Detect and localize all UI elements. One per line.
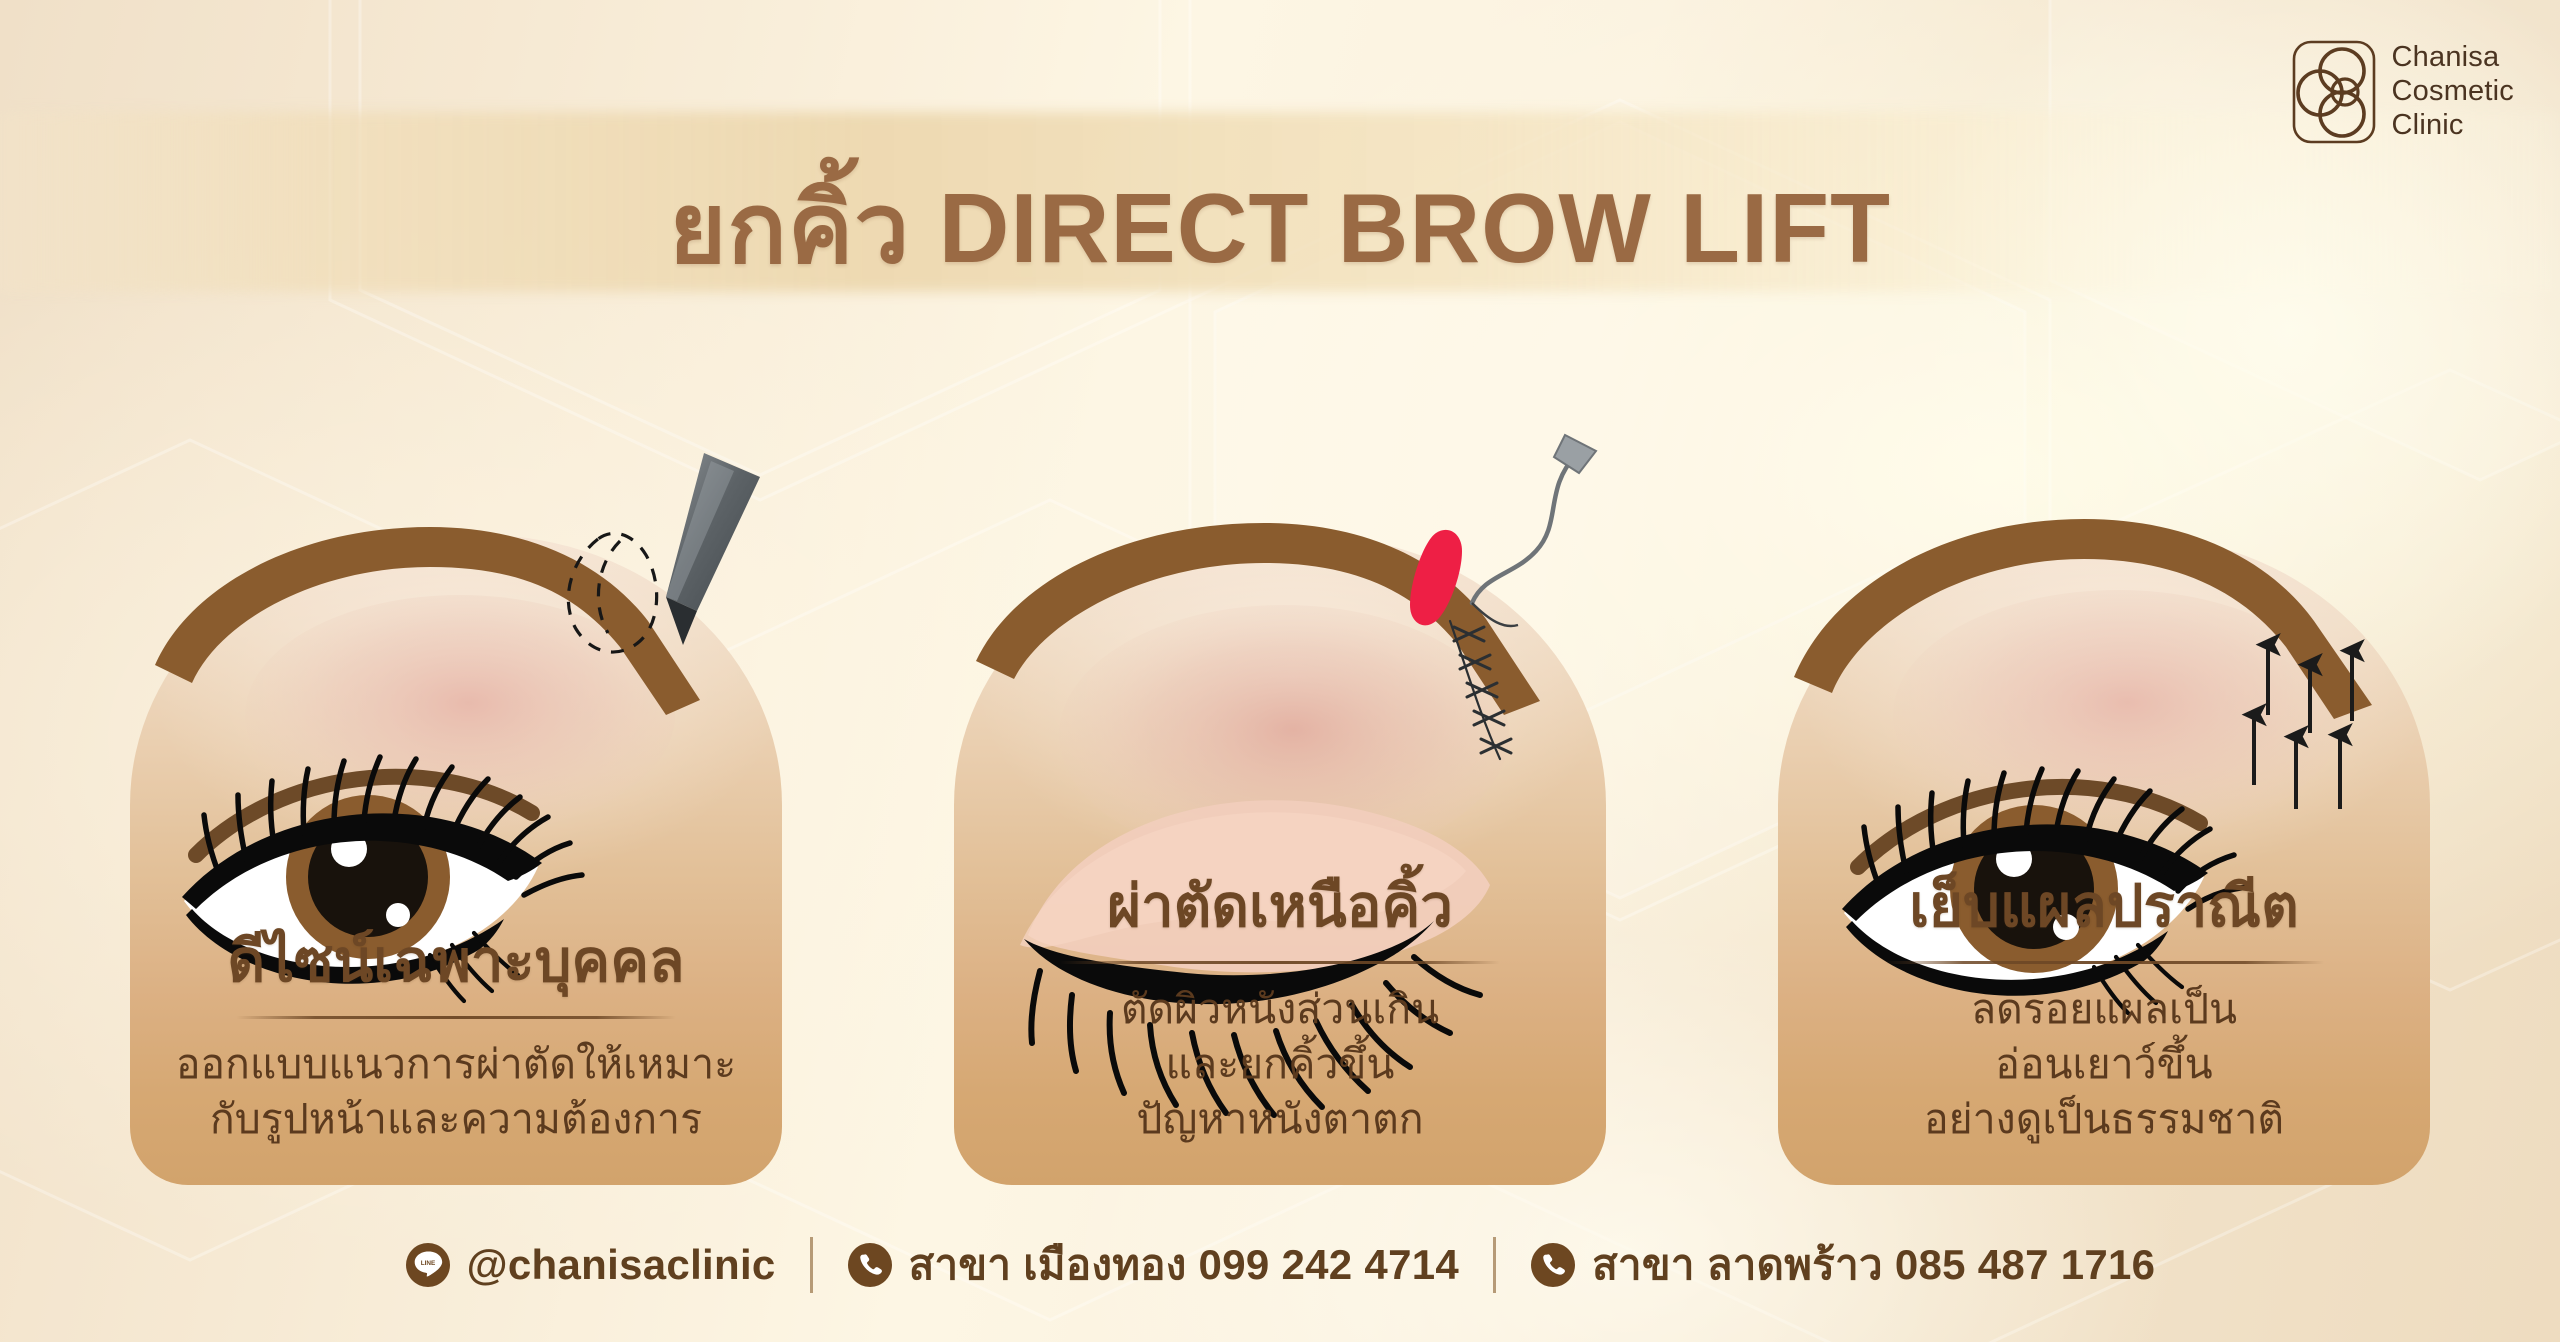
footer-branch-ladprao[interactable]: สาขา ลาดพร้าว 085 487 1716 [1496,1232,2189,1298]
line-handle: @chanisaclinic [467,1241,776,1289]
page-title: ยกคิ้ว DIRECT BROW LIFT [0,150,2560,306]
card-title: เย็บแผลปราณีต [1748,875,2460,939]
clinic-name: Chanisa Cosmetic Clinic [2392,41,2514,143]
card-description: ลดรอยแผลเป็น อ่อนเยาว์ขึ้น อย่างดูเป็นธร… [1748,982,2460,1147]
card-description: ตัดผิวหนังส่วนเกิน และยกคิ้วขึ้น ปัญหาหน… [924,982,1636,1147]
card-description-line-2: และยกคิ้วขึ้น [924,1037,1636,1092]
svg-text:LINE: LINE [420,1260,435,1267]
branch-muangthong-text: สาขา เมืองทอง 099 242 4714 [909,1232,1459,1298]
card-incision: ผ่าตัดเหนือคิ้ว ตัดผิวหนังส่วนเกิน และยก… [924,415,1636,1185]
divider [1060,961,1500,964]
divider [236,1016,676,1019]
clinic-logo: Chanisa Cosmetic Clinic [2292,40,2514,144]
card-suture: เย็บแผลปราณีต ลดรอยแผลเป็น อ่อนเยาว์ขึ้น… [1748,415,2460,1185]
card-description-line-1: ตัดผิวหนังส่วนเกิน [924,982,1636,1037]
line-app-icon: LINE [405,1242,451,1288]
phone-icon [1530,1242,1576,1288]
card-text-block: เย็บแผลปราณีต ลดรอยแผลเป็น อ่อนเยาว์ขึ้น… [1748,875,2460,1147]
card-title: ดีไซน์เฉพาะบุคคล [100,930,812,994]
clinic-name-line-2: Cosmetic [2392,75,2514,109]
card-title: ผ่าตัดเหนือคิ้ว [924,875,1636,939]
card-description: ออกแบบแนวการผ่าตัดให้เหมาะ กับรูปหน้าและ… [100,1037,812,1147]
card-description-line-2: อ่อนเยาว์ขึ้น [1748,1037,2460,1092]
clinic-name-line-3: Clinic [2392,109,2514,143]
card-text-block: ดีไซน์เฉพาะบุคคล ออกแบบแนวการผ่าตัดให้เห… [100,930,812,1147]
branch-ladprao-text: สาขา ลาดพร้าว 085 487 1716 [1592,1232,2155,1298]
phone-icon [847,1242,893,1288]
divider [1884,961,2324,964]
chanisa-circles-logo-icon [2292,40,2376,144]
footer-branch-muangthong[interactable]: สาขา เมืองทอง 099 242 4714 [813,1232,1493,1298]
card-text-block: ผ่าตัดเหนือคิ้ว ตัดผิวหนังส่วนเกิน และยก… [924,875,1636,1147]
card-description-line-1: ออกแบบแนวการผ่าตัดให้เหมาะ [100,1037,812,1092]
cards-row: ดีไซน์เฉพาะบุคคล ออกแบบแนวการผ่าตัดให้เห… [0,415,2560,1185]
clinic-name-line-1: Chanisa [2392,41,2514,75]
card-design: ดีไซน์เฉพาะบุคคล ออกแบบแนวการผ่าตัดให้เห… [100,415,812,1185]
contact-footer: LINE @chanisaclinic สาขา เมืองทอง 099 24… [0,1232,2560,1298]
card-description-line-2: กับรูปหน้าและความต้องการ [100,1092,812,1147]
card-description-line-3: อย่างดูเป็นธรรมชาติ [1748,1092,2460,1147]
footer-line-contact[interactable]: LINE @chanisaclinic [371,1241,810,1289]
card-description-line-1: ลดรอยแผลเป็น [1748,982,2460,1037]
card-description-line-3: ปัญหาหนังตาตก [924,1092,1636,1147]
footer-divider [810,1237,813,1293]
footer-divider [1493,1237,1496,1293]
